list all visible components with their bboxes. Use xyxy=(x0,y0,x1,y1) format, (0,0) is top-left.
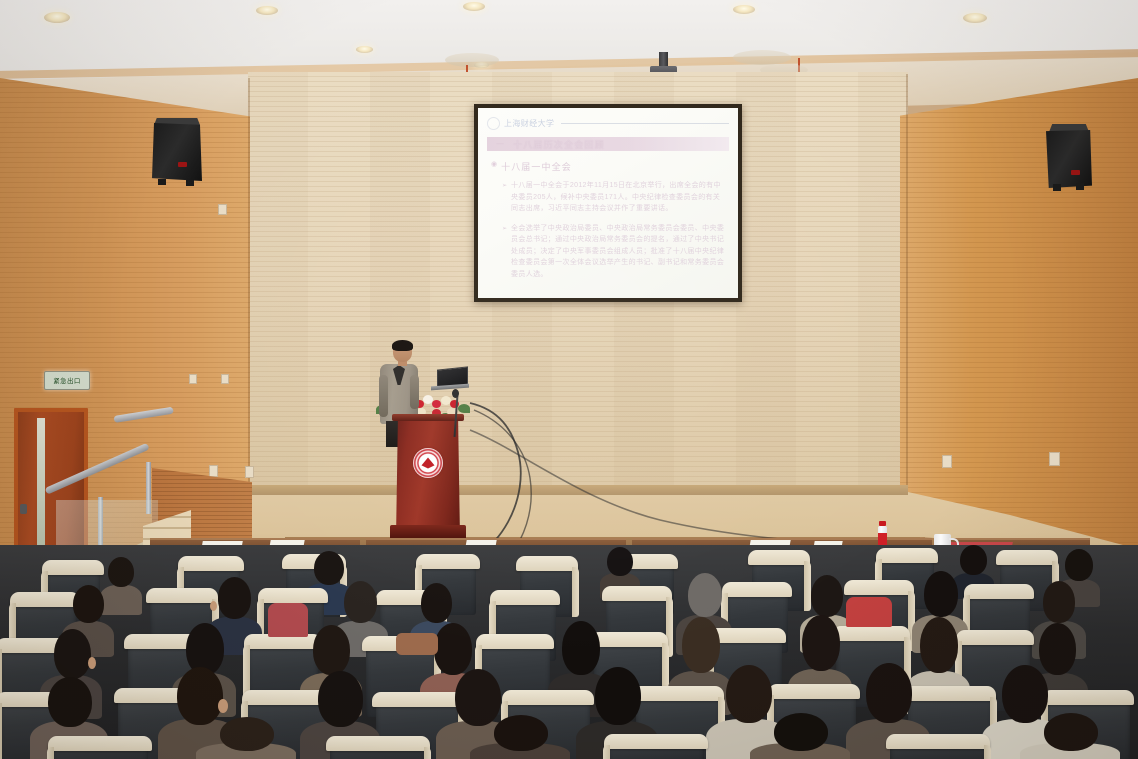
audience-seating xyxy=(0,545,1138,759)
slide-title-bar: 一 十八届历次全会回顾 xyxy=(487,137,729,151)
presenter-arm xyxy=(410,375,419,409)
slide-heading: 十八届一中全会 xyxy=(501,160,572,173)
door-handle-icon[interactable] xyxy=(20,504,27,514)
slide-header: 上海财经大学 xyxy=(487,115,729,131)
wall-plate xyxy=(209,465,218,477)
audience-jacket xyxy=(268,603,308,637)
ceiling-vent-icon xyxy=(445,53,499,67)
microphone-capsule xyxy=(452,389,459,398)
wall-plate xyxy=(942,455,952,468)
audience-member xyxy=(196,717,296,759)
auditorium-seat-icon[interactable] xyxy=(890,739,986,759)
wall-plate xyxy=(221,374,229,384)
recessed-downlight-icon xyxy=(963,13,987,23)
projection-screen-frame: 上海财经大学 一 十八届历次全会回顾 ◉ 十八届一中全会 ➢ 十八届一中全会于2… xyxy=(474,104,742,302)
right-side-wall xyxy=(900,78,1138,548)
slide-logo-label: 上海财经大学 xyxy=(504,118,554,129)
auditorium-seat-icon[interactable] xyxy=(608,739,704,759)
auditorium-seat-icon[interactable] xyxy=(330,741,426,759)
wall-plate xyxy=(218,204,227,215)
stage-back-trim xyxy=(248,485,908,495)
audience-jacket xyxy=(396,633,438,655)
slide-title-number: 一 xyxy=(487,139,513,150)
slide-paragraph: ➢ 十八届一中全会于2012年11月15日在北京举行，出席全会的有中央委员205… xyxy=(502,180,727,215)
arrow-bullet-icon: ➢ xyxy=(502,223,507,281)
audience-jacket xyxy=(846,597,892,627)
university-seal-icon xyxy=(487,117,500,130)
audience-member xyxy=(470,715,570,759)
recessed-downlight-icon xyxy=(44,12,70,23)
wall-corner-left xyxy=(248,78,250,498)
bullet-icon: ◉ xyxy=(491,160,497,168)
slide-paragraph-text: 十八届一中全会于2012年11月15日在北京举行，出席全会的有中央委员205人，… xyxy=(511,180,727,215)
projection-screen: 上海财经大学 一 十八届历次全会回顾 ◉ 十八届一中全会 ➢ 十八届一中全会于2… xyxy=(478,108,738,298)
recessed-downlight-icon xyxy=(463,2,485,11)
podium xyxy=(396,418,460,538)
slide-title: 十八届历次全会回顾 xyxy=(513,138,605,151)
ceiling-vent-icon xyxy=(733,50,791,65)
door-glass-panel xyxy=(37,418,45,550)
slide-body: ◉ 十八届一中全会 ➢ 十八届一中全会于2012年11月15日在北京举行，出席全… xyxy=(491,160,727,288)
arrow-bullet-icon: ➢ xyxy=(502,180,507,215)
auditorium-seat-icon[interactable] xyxy=(52,741,148,759)
wall-loudspeaker-icon xyxy=(152,118,202,188)
slide-paragraph: ➢ 全会选举了中央政治局委员、中央政治局常务委员会委员、中央委员会总书记；通过中… xyxy=(502,223,727,281)
audience-member xyxy=(750,713,850,759)
emergency-exit-sign: 紧急出口 xyxy=(44,371,90,390)
slide-header-rule xyxy=(561,123,729,124)
podium-top-surface xyxy=(392,414,464,421)
university-emblem-icon xyxy=(413,448,443,478)
slide-heading-row: ◉ 十八届一中全会 xyxy=(491,160,727,173)
exit-sign-label: 紧急出口 xyxy=(53,376,81,385)
presenter-hair xyxy=(392,340,413,351)
wall-corner-right xyxy=(906,74,908,494)
audience-member xyxy=(1020,713,1120,759)
wall-loudspeaker-icon xyxy=(1046,124,1092,196)
wall-plate xyxy=(189,374,197,384)
lecture-hall-photo: EPSON 紧急出口 上海财经大学 一 十八届历次全会回顾 xyxy=(0,0,1138,759)
bottle-label xyxy=(878,533,887,545)
podium-base xyxy=(390,525,466,538)
wall-plate xyxy=(1049,452,1060,466)
recessed-downlight-icon xyxy=(356,46,373,53)
emblem-center-icon xyxy=(422,458,435,469)
bottle-cap xyxy=(879,521,886,526)
recessed-downlight-icon xyxy=(256,6,278,15)
presenter-arm xyxy=(379,375,388,417)
wall-plate xyxy=(245,466,254,478)
recessed-downlight-icon xyxy=(733,5,755,14)
slide-paragraph-text: 全会选举了中央政治局委员、中央政治局常务委员会委员、中央委员会总书记；通过中央政… xyxy=(511,223,727,281)
